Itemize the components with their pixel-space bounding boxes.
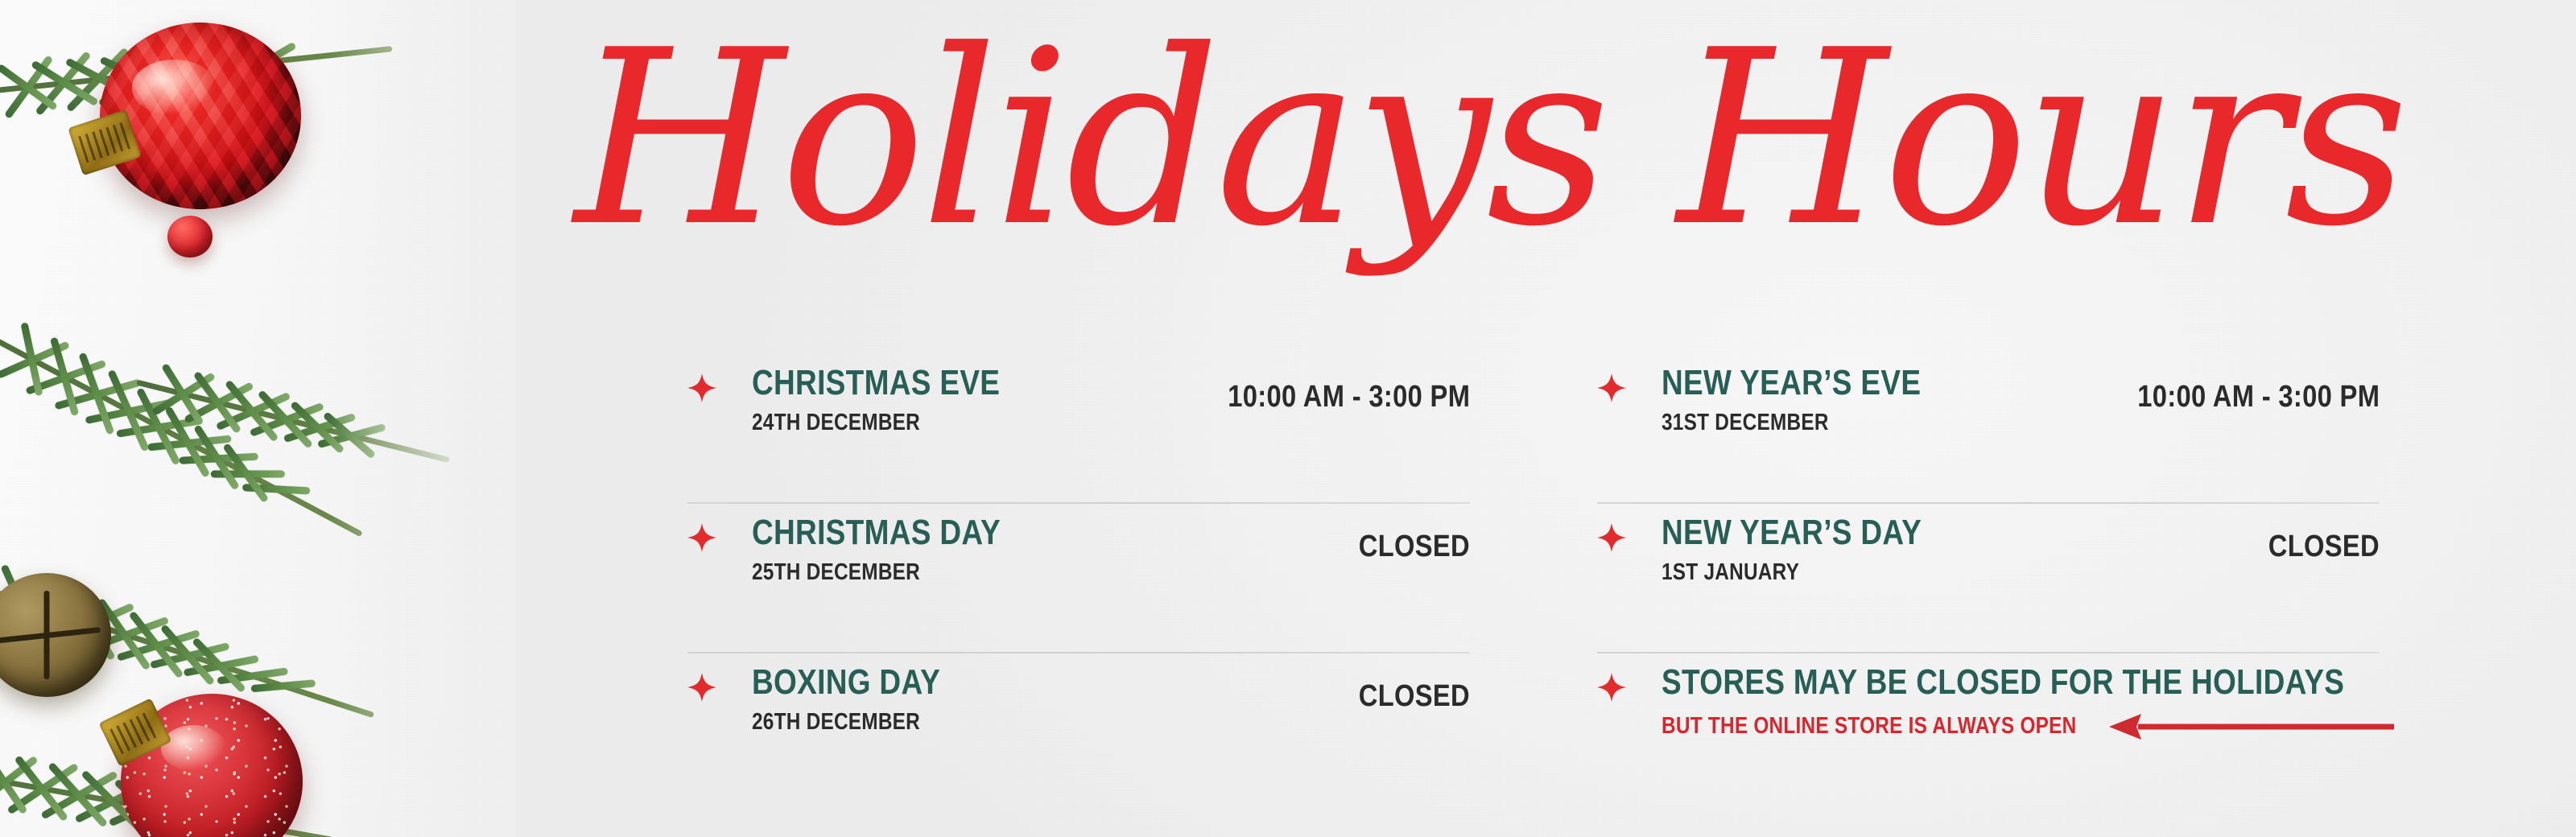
sparkle-star-icon	[1597, 673, 1626, 702]
holiday-hours: 10:00 AM - 3:00 PM	[1228, 381, 1481, 412]
schedule-row-labels: NEW YEAR’S DAY 1ST JANUARY	[1662, 515, 2248, 584]
arrow-left-icon	[2106, 711, 2396, 743]
schedule-column-right: NEW YEAR’S EVE 31ST DECEMBER 10:00 AM - …	[1586, 354, 2391, 805]
schedule-row[interactable]: CHRISTMAS EVE 24TH DECEMBER 10:00 AM - 3…	[676, 354, 1481, 504]
schedule-row[interactable]: NEW YEAR’S DAY 1ST JANUARY CLOSED	[1586, 504, 2391, 654]
schedule-row[interactable]: CHRISTMAS DAY 25TH DECEMBER CLOSED	[676, 504, 1481, 654]
holiday-hours: CLOSED	[1359, 681, 1481, 711]
schedule-row-labels: CHRISTMAS EVE 24TH DECEMBER	[752, 365, 1187, 435]
holiday-date: 31ST DECEMBER	[1662, 411, 2027, 435]
holiday-name: NEW YEAR’S DAY	[1662, 515, 2155, 551]
holiday-date: 26TH DECEMBER	[752, 711, 1245, 734]
sparkle-star-icon	[1597, 523, 1626, 552]
holiday-hours: 10:00 AM - 3:00 PM	[2137, 381, 2391, 412]
holiday-hours-schedule: CHRISTMAS EVE 24TH DECEMBER 10:00 AM - 3…	[676, 354, 2391, 805]
notice-headline: STORES MAY BE CLOSED FOR THE HOLIDAYS	[1662, 665, 2274, 701]
holiday-hours-banner: Holidays Hours CHRISTMAS EVE 24TH DECEMB…	[0, 0, 2576, 837]
page-title-text: Holidays Hours	[571, 0, 2404, 279]
notice-subtext: BUT THE ONLINE STORE IS ALWAYS OPEN	[1662, 715, 2076, 738]
holiday-name: CHRISTMAS DAY	[752, 515, 1245, 551]
holiday-date: 24TH DECEMBER	[752, 411, 1117, 435]
holiday-name: BOXING DAY	[752, 665, 1245, 701]
christmas-decor-photo	[0, 0, 515, 837]
holiday-name: CHRISTMAS EVE	[752, 365, 1117, 402]
sparkle-star-icon	[687, 673, 716, 702]
schedule-row-labels: CHRISTMAS DAY 25TH DECEMBER	[752, 515, 1339, 584]
holiday-date: 25TH DECEMBER	[752, 561, 1245, 584]
page-title-script: Holidays Hours	[918, 23, 2061, 288]
schedule-row[interactable]: BOXING DAY 26TH DECEMBER CLOSED	[676, 654, 1481, 803]
sparkle-star-icon	[687, 523, 716, 552]
holiday-hours: CLOSED	[1359, 531, 1481, 562]
holiday-name: NEW YEAR’S EVE	[1662, 365, 2027, 402]
red-berry-icon	[167, 216, 213, 258]
schedule-row-labels: STORES MAY BE CLOSED FOR THE HOLIDAYS BU…	[1662, 665, 2391, 743]
sparkle-star-icon	[687, 373, 716, 402]
holiday-hours: CLOSED	[2268, 531, 2391, 562]
faceted-red-bauble-icon	[100, 23, 301, 209]
page-title: Holidays Hours	[918, 23, 2061, 288]
schedule-row[interactable]: NEW YEAR’S EVE 31ST DECEMBER 10:00 AM - …	[1586, 354, 2391, 504]
schedule-column-gutter	[1481, 354, 1586, 805]
notice-line: BUT THE ONLINE STORE IS ALWAYS OPEN	[1662, 711, 2391, 743]
sparkle-star-icon	[1597, 373, 1626, 402]
schedule-column-left: CHRISTMAS EVE 24TH DECEMBER 10:00 AM - 3…	[676, 354, 1481, 805]
holiday-date: 1ST JANUARY	[1662, 561, 2155, 584]
schedule-row-labels: BOXING DAY 26TH DECEMBER	[752, 665, 1339, 734]
schedule-row-labels: NEW YEAR’S EVE 31ST DECEMBER	[1662, 365, 2096, 435]
schedule-row-notice[interactable]: STORES MAY BE CLOSED FOR THE HOLIDAYS BU…	[1586, 654, 2391, 803]
glitter-red-bauble-icon	[121, 694, 303, 837]
